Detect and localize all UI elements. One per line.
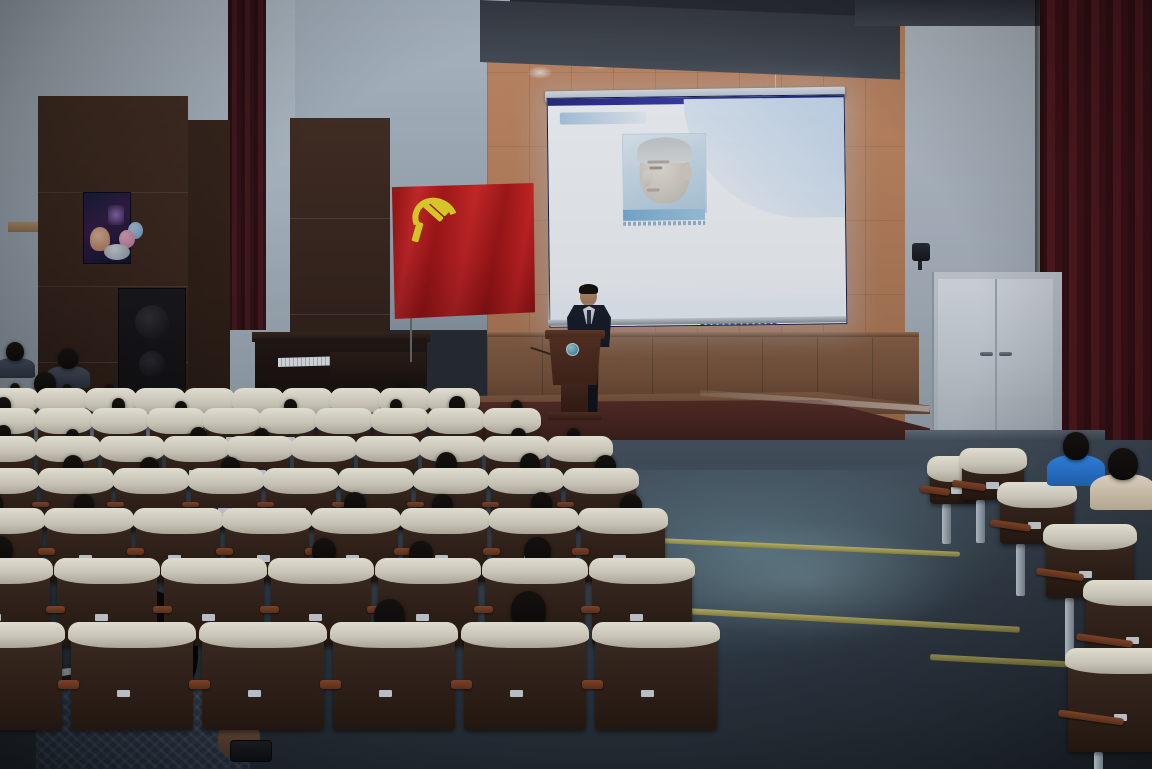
- seat-armrest: [38, 548, 55, 554]
- seat-armrest: [107, 502, 124, 507]
- seat-piping: [461, 622, 589, 648]
- seat-piping: [400, 508, 490, 534]
- seat-armrest: [320, 680, 341, 689]
- auditorium-seat: [71, 626, 193, 730]
- wood-wall-panel-mid: [188, 120, 230, 390]
- slide-title-text: [560, 112, 646, 125]
- seat-piping: [222, 508, 312, 534]
- seat-piping: [563, 468, 639, 494]
- seat-number-tag: [95, 614, 108, 621]
- presenter-tie: [587, 310, 591, 324]
- seat-piping: [161, 558, 267, 584]
- seat-armrest: [482, 502, 499, 507]
- portrait-ear: [681, 164, 691, 180]
- seat-armrest: [58, 680, 79, 689]
- seat-piping: [427, 408, 485, 434]
- presenter-hair: [579, 284, 598, 294]
- lectern-seal-icon: [566, 343, 579, 356]
- portrait-eye: [649, 166, 662, 169]
- seat-piping: [188, 468, 264, 494]
- seat-piping: [38, 468, 114, 494]
- seat-piping: [375, 558, 481, 584]
- wall-plaque: [8, 222, 38, 232]
- seat-piping: [489, 508, 579, 534]
- seat-number-tag: [117, 690, 130, 697]
- seat-pedestal: [976, 500, 985, 543]
- seat-armrest: [182, 502, 199, 507]
- seat-pedestal: [942, 504, 951, 544]
- seat-piping: [203, 408, 261, 434]
- seat-piping: [413, 468, 489, 494]
- door-handle-right[interactable]: [999, 352, 1012, 356]
- balloon-silver: [104, 244, 130, 260]
- seat-piping: [1043, 524, 1137, 550]
- seat-piping: [355, 436, 421, 462]
- seat-pedestal: [1016, 544, 1025, 596]
- seat-piping: [578, 508, 668, 534]
- seat-piping: [133, 508, 223, 534]
- seat-piping: [338, 468, 414, 494]
- seat-armrest: [189, 680, 210, 689]
- seat-piping: [54, 558, 160, 584]
- portrait-nose: [643, 171, 652, 187]
- seat-piping: [589, 558, 695, 584]
- seat-piping: [291, 436, 357, 462]
- hammer-and-sickle-icon: [408, 196, 460, 248]
- auditorium-seat: [202, 626, 324, 730]
- seat-piping: [35, 408, 93, 434]
- seat-armrest: [557, 502, 574, 507]
- left-curtain: [228, 0, 266, 330]
- seat-piping: [959, 448, 1027, 474]
- seat-armrest: [581, 606, 600, 614]
- seat-armrest: [153, 606, 172, 614]
- audience-shoulders: [0, 358, 35, 378]
- seat-piping: [199, 622, 327, 648]
- seat-piping: [315, 408, 373, 434]
- seat-number-tag: [510, 690, 523, 697]
- seat-number-tag: [416, 614, 429, 621]
- seat-piping: [91, 408, 149, 434]
- audience-head: [6, 342, 24, 361]
- slide-portrait-photo: [622, 133, 707, 214]
- seat-number-tag: [202, 614, 215, 621]
- seat-armrest: [483, 548, 500, 554]
- seat-armrest: [582, 680, 603, 689]
- seat-piping: [1065, 648, 1152, 674]
- auditorium-seat: [0, 626, 62, 730]
- seat-number-tag: [248, 690, 261, 697]
- seat-number-tag: [986, 482, 999, 489]
- seat-armrest: [474, 606, 493, 614]
- lectern-stem: [561, 383, 588, 415]
- speaker-cone-small: [139, 351, 165, 377]
- seat-piping: [483, 436, 549, 462]
- portrait-mouth: [647, 188, 660, 191]
- seat-piping: [1083, 580, 1152, 606]
- seat-piping: [482, 558, 588, 584]
- audience-head: [1063, 432, 1089, 460]
- seat-piping: [311, 508, 401, 534]
- seat-pedestal: [1094, 752, 1103, 769]
- seat-armrest: [127, 548, 144, 554]
- audience-head: [1108, 448, 1138, 480]
- seat-number-tag: [641, 690, 654, 697]
- seat-number-tag: [379, 690, 392, 697]
- portrait-brow: [647, 160, 669, 163]
- auditorium-seat: [595, 626, 717, 730]
- seat-piping: [163, 436, 229, 462]
- speaker-cone-large: [135, 305, 169, 339]
- seat-piping: [44, 508, 134, 534]
- flag-support: [410, 316, 412, 362]
- seat-piping: [227, 436, 293, 462]
- seat-piping: [68, 622, 196, 648]
- smartphone: [230, 740, 272, 762]
- seat-piping: [488, 468, 564, 494]
- seat-piping: [330, 622, 458, 648]
- auditorium-seat: [333, 626, 455, 730]
- seat-piping: [268, 558, 374, 584]
- auditorium-seat: [464, 626, 586, 730]
- slide-subcaption-text: [623, 221, 705, 226]
- poster-glow: [108, 205, 124, 225]
- seat-number-tag: [630, 614, 643, 621]
- exit-door-split: [995, 279, 997, 442]
- seat-armrest: [257, 502, 274, 507]
- auditorium-photo: [0, 0, 1152, 769]
- seat-armrest: [216, 548, 233, 554]
- seat-piping: [592, 622, 720, 648]
- seat-armrest: [32, 502, 49, 507]
- audience-head: [58, 348, 78, 369]
- seat-armrest: [46, 606, 65, 614]
- seat-armrest: [572, 548, 589, 554]
- seat-armrest: [260, 606, 279, 614]
- seat-armrest: [451, 680, 472, 689]
- seat-piping: [371, 408, 429, 434]
- seat-piping: [113, 468, 189, 494]
- wall-camera-icon: [912, 243, 930, 261]
- lectern-base: [548, 412, 602, 420]
- seat-number-tag: [0, 614, 1, 621]
- seat-number-tag: [309, 614, 322, 621]
- slide-arc-graphic: [684, 97, 848, 219]
- slide-caption-bar: [623, 209, 705, 221]
- auditorium-seat: [1068, 652, 1152, 752]
- door-handle-left[interactable]: [980, 352, 993, 356]
- seat-piping: [263, 468, 339, 494]
- seat-armrest: [407, 502, 424, 507]
